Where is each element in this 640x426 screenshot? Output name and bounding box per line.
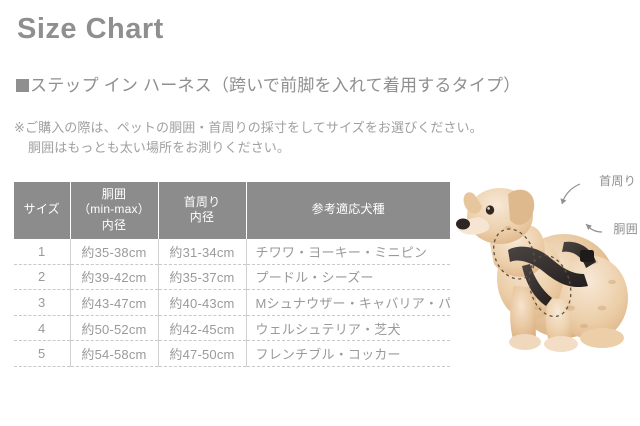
- cell-size: 5: [14, 341, 70, 367]
- cell-chest: 約54-58cm: [70, 341, 158, 367]
- size-table: サイズ 胴囲 （min-max） 内径 首周り 内径 参考適応犬種 1 約: [14, 182, 450, 367]
- cell-breed: フレンチブル・コッカー: [246, 341, 450, 367]
- measurement-callouts: [452, 158, 640, 373]
- header-chest: 胴囲 （min-max） 内径: [70, 182, 158, 239]
- table-row: 5 約54-58cm 約47-50cm フレンチブル・コッカー: [14, 341, 450, 367]
- cell-neck: 約35-37cm: [158, 264, 246, 290]
- header-neck-line1: 首周り: [184, 195, 221, 209]
- cell-chest: 約50-52cm: [70, 315, 158, 341]
- purchase-note: ※ご購入の際は、ペットの胴囲・首周りの採寸をしてサイズをお選びください。 胴囲は…: [14, 118, 483, 158]
- header-size: サイズ: [14, 182, 70, 239]
- square-bullet-icon: [16, 79, 29, 92]
- cell-chest: 約35-38cm: [70, 239, 158, 264]
- cell-breed: ウェルシュテリア・芝犬: [246, 315, 450, 341]
- cell-neck: 約40-43cm: [158, 290, 246, 316]
- dog-harness-photo: 首周り 胴囲: [452, 158, 640, 373]
- header-chest-line1: 胴囲: [102, 187, 126, 201]
- harness-photo-panel: 首周り 胴囲: [452, 158, 640, 373]
- cell-breed: チワワ・ヨーキー・ミニピン: [246, 239, 450, 264]
- subtitle-text: ステップ イン ハーネス（跨いで前脚を入れて着用するタイプ）: [30, 76, 520, 95]
- cell-chest: 約39-42cm: [70, 264, 158, 290]
- cell-size: 3: [14, 290, 70, 316]
- cell-neck: 約31-34cm: [158, 239, 246, 264]
- header-neck-line2: 内径: [190, 210, 214, 224]
- table-row: 4 約50-52cm 約42-45cm ウェルシュテリア・芝犬: [14, 315, 450, 341]
- header-chest-line3: 内径: [102, 218, 126, 232]
- header-breed-label: 参考適応犬種: [312, 202, 385, 216]
- header-chest-line2: （min-max）: [78, 202, 150, 216]
- cell-size: 2: [14, 264, 70, 290]
- note-line-2: 胴囲はもっとも太い場所をお測りください。: [14, 138, 483, 158]
- cell-neck: 約47-50cm: [158, 341, 246, 367]
- page-title: Size Chart: [17, 14, 164, 46]
- table-row: 1 約35-38cm 約31-34cm チワワ・ヨーキー・ミニピン: [14, 239, 450, 264]
- table-row: 2 約39-42cm 約35-37cm プードル・シーズー: [14, 264, 450, 290]
- cell-breed: Mシュナウザー・キャバリア・パグ: [246, 290, 450, 316]
- note-line-1: ※ご購入の際は、ペットの胴囲・首周りの採寸をしてサイズをお選びください。: [14, 120, 483, 135]
- label-chest-girth: 胴囲: [613, 220, 638, 237]
- cell-breed: プードル・シーズー: [246, 264, 450, 290]
- label-neck-circumference: 首周り: [599, 172, 636, 189]
- cell-chest: 約43-47cm: [70, 290, 158, 316]
- cell-size: 4: [14, 315, 70, 341]
- table-header-row: サイズ 胴囲 （min-max） 内径 首周り 内径 参考適応犬種: [14, 182, 450, 239]
- cell-size: 1: [14, 239, 70, 264]
- header-size-label: サイズ: [24, 202, 60, 216]
- cell-neck: 約42-45cm: [158, 315, 246, 341]
- subtitle: ステップ イン ハーネス（跨いで前脚を入れて着用するタイプ）: [16, 76, 520, 96]
- header-breed: 参考適応犬種: [246, 182, 450, 239]
- header-neck: 首周り 内径: [158, 182, 246, 239]
- size-chart-page: Size Chart ステップ イン ハーネス（跨いで前脚を入れて着用するタイプ…: [0, 0, 640, 426]
- table-row: 3 約43-47cm 約40-43cm Mシュナウザー・キャバリア・パグ: [14, 290, 450, 316]
